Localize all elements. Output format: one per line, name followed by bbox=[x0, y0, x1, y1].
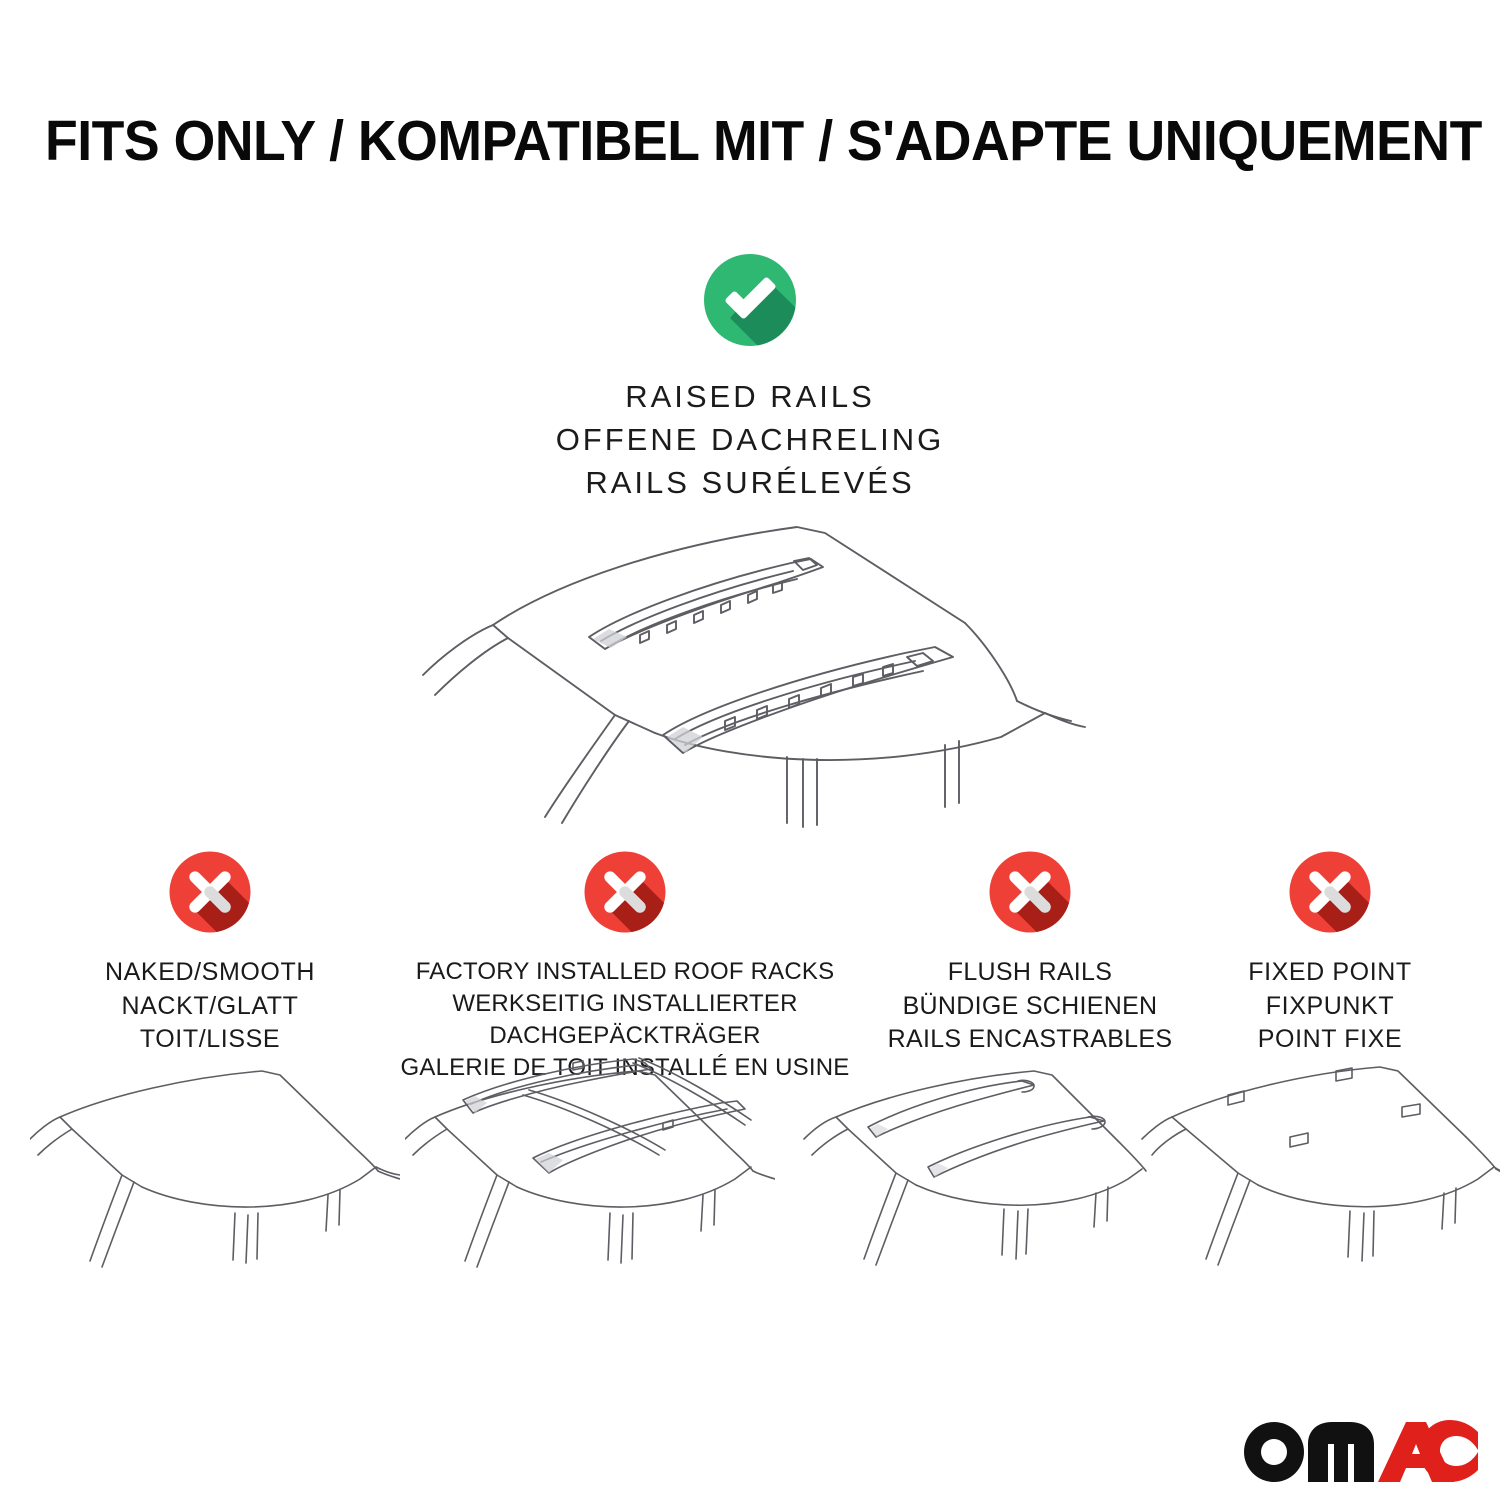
label-en: FACTORY INSTALLED ROOF RACKS bbox=[400, 956, 850, 988]
car-roof-naked-smooth-illustration bbox=[30, 1055, 400, 1295]
page-title: FITS ONLY / KOMPATIBEL MIT / S'ADAPTE UN… bbox=[45, 108, 1455, 174]
compatible-label-fr: RAILS SURÉLEVÉS bbox=[0, 462, 1500, 505]
incompatible-item-flush-rails: FLUSH RAILS BÜNDIGE SCHIENEN RAILS ENCAS… bbox=[865, 848, 1195, 1057]
compatible-label-de: OFFENE DACHRELING bbox=[0, 419, 1500, 462]
label-en: FIXED POINT bbox=[1205, 956, 1455, 990]
car-roof-with-raised-rails-illustration bbox=[405, 505, 1095, 835]
red-x-icon bbox=[581, 848, 669, 936]
car-roof-flush-rails-illustration bbox=[778, 1055, 1148, 1295]
compatible-section: RAISED RAILS OFFENE DACHRELING RAILS SUR… bbox=[0, 250, 1500, 504]
label-fr: RAILS ENCASTRABLES bbox=[865, 1023, 1195, 1057]
incompatible-labels: NAKED/SMOOTH NACKT/GLATT TOIT/LISSE bbox=[40, 956, 380, 1057]
incompatible-item-factory-roof-racks: FACTORY INSTALLED ROOF RACKS WERKSEITIG … bbox=[400, 848, 850, 1085]
car-roof-fixed-point-illustration bbox=[1140, 1055, 1500, 1295]
incompatible-labels: FLUSH RAILS BÜNDIGE SCHIENEN RAILS ENCAS… bbox=[865, 956, 1195, 1057]
red-x-icon bbox=[166, 848, 254, 936]
omac-logo bbox=[1238, 1408, 1478, 1488]
label-de: BÜNDIGE SCHIENEN bbox=[865, 990, 1195, 1024]
car-roof-factory-roof-racks-illustration bbox=[405, 1055, 775, 1295]
label-en: FLUSH RAILS bbox=[865, 956, 1195, 990]
label-fr: POINT FIXE bbox=[1205, 1023, 1455, 1057]
label-de: FIXPUNKT bbox=[1205, 990, 1455, 1024]
incompatible-item-naked-smooth: NAKED/SMOOTH NACKT/GLATT TOIT/LISSE bbox=[40, 848, 380, 1057]
compatible-labels: RAISED RAILS OFFENE DACHRELING RAILS SUR… bbox=[0, 376, 1500, 504]
incompatible-item-fixed-point: FIXED POINT FIXPUNKT POINT FIXE bbox=[1205, 848, 1455, 1057]
incompatible-labels: FIXED POINT FIXPUNKT POINT FIXE bbox=[1205, 956, 1455, 1057]
incompatible-illustrations-row bbox=[0, 1055, 1500, 1295]
label-de-1: WERKSEITIG INSTALLIERTER bbox=[400, 988, 850, 1020]
label-fr: TOIT/LISSE bbox=[40, 1023, 380, 1057]
compatible-label-en: RAISED RAILS bbox=[0, 376, 1500, 419]
label-en: NAKED/SMOOTH bbox=[40, 956, 380, 990]
label-de-2: DACHGEPÄCKTRÄGER bbox=[400, 1020, 850, 1052]
label-de: NACKT/GLATT bbox=[40, 990, 380, 1024]
red-x-icon bbox=[1286, 848, 1374, 936]
green-check-icon bbox=[700, 250, 800, 350]
red-x-icon bbox=[986, 848, 1074, 936]
